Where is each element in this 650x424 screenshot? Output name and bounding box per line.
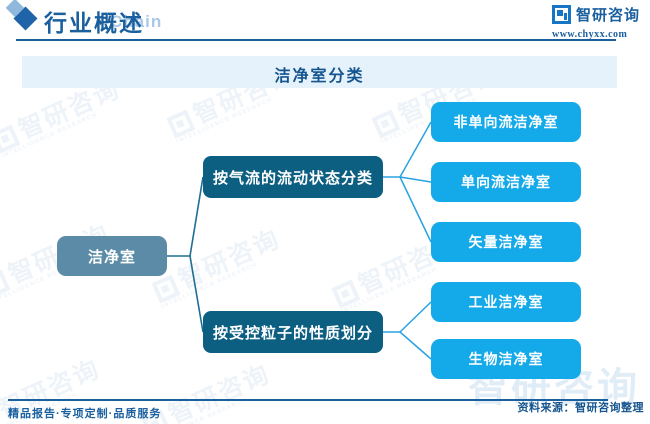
node-label: 洁净室 bbox=[88, 246, 136, 267]
brand-name: 智研咨询 bbox=[576, 4, 640, 25]
node-label: 按受控粒子的性质划分 bbox=[213, 322, 373, 343]
diagram-node-branch-1[interactable]: 按受控粒子的性质划分 bbox=[203, 311, 383, 353]
diagram-node-leaf-2[interactable]: 矢量洁净室 bbox=[431, 222, 581, 262]
node-label: 生物洁净室 bbox=[469, 349, 544, 369]
diagram-node-leaf-4[interactable]: 生物洁净室 bbox=[431, 339, 581, 379]
diagram-node-root[interactable]: 洁净室 bbox=[57, 236, 167, 276]
page-header: Chain 行业概述 智研咨询 www.chyxx.com bbox=[0, 0, 650, 46]
node-label: 非单向流洁净室 bbox=[454, 112, 559, 132]
brand-block: 智研咨询 www.chyxx.com bbox=[552, 4, 640, 40]
node-label: 单向流洁净室 bbox=[461, 172, 551, 192]
header-divider bbox=[16, 39, 616, 41]
node-label: 矢量洁净室 bbox=[469, 232, 544, 252]
footer-source: 资料来源：智研咨询整理 bbox=[518, 399, 645, 415]
footer-tagline: 精品报告·专项定制·品质服务 bbox=[8, 405, 161, 421]
node-label: 按气流的流动状态分类 bbox=[213, 167, 373, 188]
node-label: 工业洁净室 bbox=[469, 292, 544, 312]
diagram-canvas: 洁净室 按气流的流动状态分类 按受控粒子的性质划分 非单向流洁净室 单向流洁净室… bbox=[0, 0, 650, 424]
diagram-node-branch-0[interactable]: 按气流的流动状态分类 bbox=[203, 156, 383, 198]
diagram-node-leaf-1[interactable]: 单向流洁净室 bbox=[431, 162, 581, 202]
brand-logo-icon bbox=[552, 5, 571, 24]
diagram-node-leaf-0[interactable]: 非单向流洁净室 bbox=[431, 102, 581, 142]
brand-url[interactable]: www.chyxx.com bbox=[552, 29, 640, 40]
page-title: 行业概述 bbox=[44, 4, 144, 38]
diamond-icon bbox=[13, 6, 37, 30]
diagram-node-leaf-3[interactable]: 工业洁净室 bbox=[431, 282, 581, 322]
